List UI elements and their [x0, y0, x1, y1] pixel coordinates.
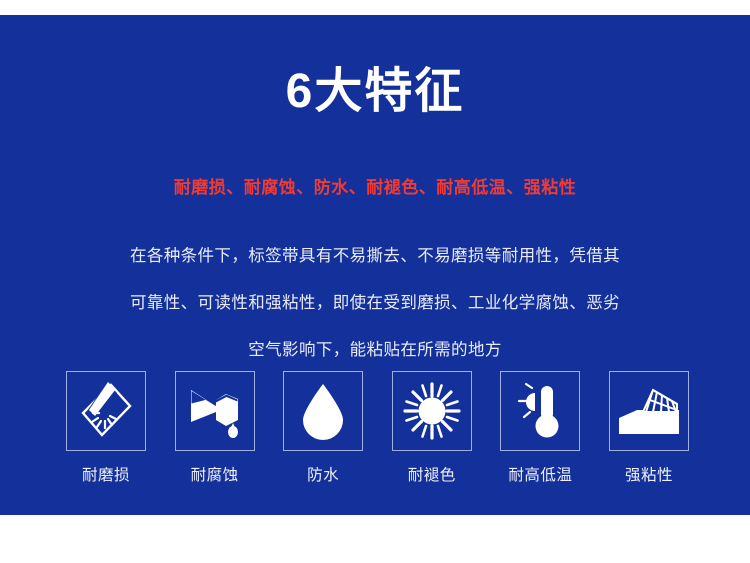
corrosion-flask-icon: [186, 382, 244, 440]
feature-item-fade: 耐褪色: [386, 371, 478, 485]
water-drop-icon: [297, 382, 349, 440]
feature-item-adhesion: 强粘性: [603, 371, 695, 485]
feature-item-abrasion: 耐磨损: [60, 371, 152, 485]
promo-banner: 6大特征 耐磨损、耐腐蚀、防水、耐褪色、耐高低温、强粘性 在各种条件下，标签带具…: [0, 0, 750, 563]
body-line-3: 空气影响下，能粘贴在所需的地方: [0, 327, 750, 374]
adhesion-peel-icon: [617, 382, 681, 440]
feature-item-corrosion: 耐腐蚀: [169, 371, 261, 485]
icon-box-temperature: [500, 371, 580, 451]
icon-box-fade: [392, 371, 472, 451]
body-line-2: 可靠性、可读性和强粘性，即使在受到磨损、工业化学腐蚀、恶劣: [0, 280, 750, 327]
feature-item-waterproof: 防水: [277, 371, 369, 485]
feature-label-waterproof: 防水: [307, 463, 339, 485]
body-line-1: 在各种条件下，标签带具有不易撕去、不易磨损等耐用性，凭借其: [0, 233, 750, 280]
page-title: 6大特征: [0, 65, 750, 119]
feature-label-adhesion: 强粘性: [625, 463, 673, 485]
body-paragraph: 在各种条件下，标签带具有不易撕去、不易磨损等耐用性，凭借其 可靠性、可读性和强粘…: [0, 233, 750, 374]
feature-label-fade: 耐褪色: [408, 463, 456, 485]
icon-box-corrosion: [175, 371, 255, 451]
icon-box-abrasion: [66, 371, 146, 451]
feature-label-corrosion: 耐腐蚀: [191, 463, 239, 485]
blue-panel: 6大特征 耐磨损、耐腐蚀、防水、耐褪色、耐高低温、强粘性 在各种条件下，标签带具…: [0, 15, 750, 515]
feature-label-temperature: 耐高低温: [508, 463, 572, 485]
feature-subtitle: 耐磨损、耐腐蚀、防水、耐褪色、耐高低温、强粘性: [0, 173, 750, 198]
feature-list: 耐磨损: [60, 371, 695, 485]
icon-box-adhesion: [609, 371, 689, 451]
feature-item-temperature: 耐高低温: [494, 371, 586, 485]
thermometer-sun-icon: [511, 381, 569, 441]
sun-fade-icon: [402, 381, 462, 441]
icon-box-waterproof: [283, 371, 363, 451]
feature-label-abrasion: 耐磨损: [82, 463, 130, 485]
abrasion-resistance-icon: [75, 380, 137, 442]
